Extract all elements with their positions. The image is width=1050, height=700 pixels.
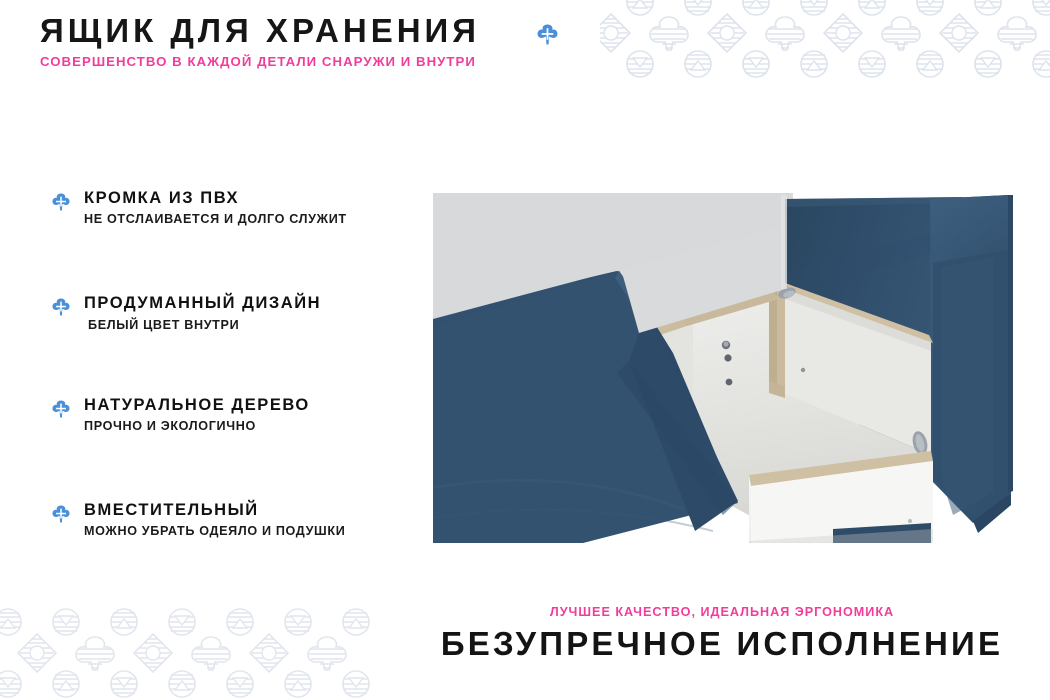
feature-title: ВМЕСТИТЕЛЬНЫЙ <box>84 502 422 519</box>
page-title: ЯЩИК ДЛЯ ХРАНЕНИЯ <box>40 14 560 47</box>
feature-title: НАТУРАЛЬНОЕ ДЕРЕВО <box>84 397 422 414</box>
page-subtitle: СОВЕРШЕНСТВО В КАЖДОЙ ДЕТАЛИ СНАРУЖИ И В… <box>40 54 560 69</box>
feature-item-natural-wood: НАТУРАЛЬНОЕ ДЕРЕВО ПРОЧНО И ЭКОЛОГИЧНО <box>52 397 422 432</box>
clover-bullet-icon <box>52 193 70 211</box>
header-block: ЯЩИК ДЛЯ ХРАНЕНИЯ СОВЕРШЕНСТВО В КАЖДОЙ … <box>40 14 560 69</box>
feature-item-design: ПРОДУМАННЫЙ ДИЗАЙН БЕЛЫЙ ЦВЕТ ВНУТРИ <box>52 295 422 331</box>
feature-list: КРОМКА ИЗ ПВХ НЕ ОТСЛАИВАЕТСЯ И ДОЛГО СЛ… <box>52 190 422 537</box>
footer-kicker: ЛУЧШЕЕ КАЧЕСТВО, ИДЕАЛЬНАЯ ЭРГОНОМИКА <box>432 606 1012 619</box>
feature-description: МОЖНО УБРАТЬ ОДЕЯЛО И ПОДУШКИ <box>84 525 422 538</box>
ornament-pattern-bottom-left <box>0 592 440 700</box>
feature-item-pvc-edge: КРОМКА ИЗ ПВХ НЕ ОТСЛАИВАЕТСЯ И ДОЛГО СЛ… <box>52 190 422 225</box>
feature-description: БЕЛЫЙ ЦВЕТ ВНУТРИ <box>88 319 422 332</box>
storage-box-photo: Открытый ящик для хранения в диване: син… <box>433 193 1013 543</box>
infographic-canvas: ЯЩИК ДЛЯ ХРАНЕНИЯ СОВЕРШЕНСТВО В КАЖДОЙ … <box>0 0 1050 700</box>
footer-title: БЕЗУПРЕЧНОЕ ИСПОЛНЕНИЕ <box>432 627 1012 660</box>
footer-block: ЛУЧШЕЕ КАЧЕСТВО, ИДЕАЛЬНАЯ ЭРГОНОМИКА БЕ… <box>432 606 1012 660</box>
ornament-pattern-top-right <box>600 0 1050 88</box>
clover-bullet-icon <box>52 505 70 523</box>
clover-bullet-icon <box>52 400 70 418</box>
clover-icon <box>537 24 558 45</box>
feature-item-capacity: ВМЕСТИТЕЛЬНЫЙ МОЖНО УБРАТЬ ОДЕЯЛО И ПОДУ… <box>52 502 422 537</box>
feature-title: КРОМКА ИЗ ПВХ <box>84 190 422 207</box>
feature-description: ПРОЧНО И ЭКОЛОГИЧНО <box>84 420 422 433</box>
feature-description: НЕ ОТСЛАИВАЕТСЯ И ДОЛГО СЛУЖИТ <box>84 213 422 226</box>
clover-bullet-icon <box>52 298 70 316</box>
feature-title: ПРОДУМАННЫЙ ДИЗАЙН <box>84 295 422 312</box>
